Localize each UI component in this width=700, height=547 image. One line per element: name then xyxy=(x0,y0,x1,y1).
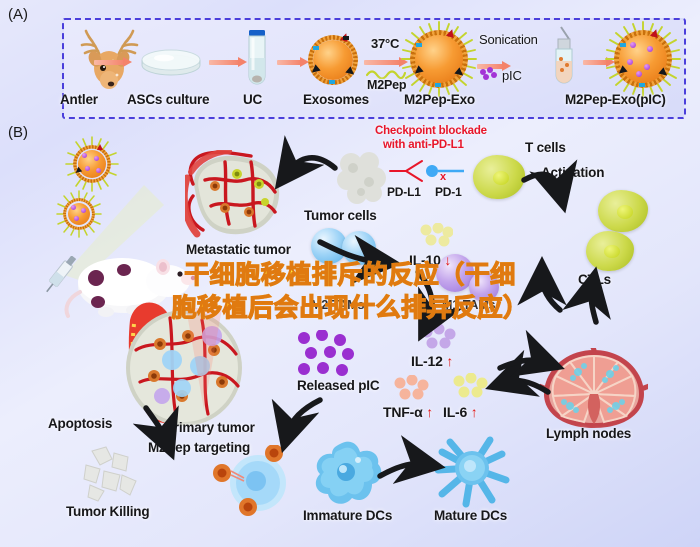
scientific-figure: (A) Antler xyxy=(0,0,700,547)
flow-arrows xyxy=(0,0,700,547)
